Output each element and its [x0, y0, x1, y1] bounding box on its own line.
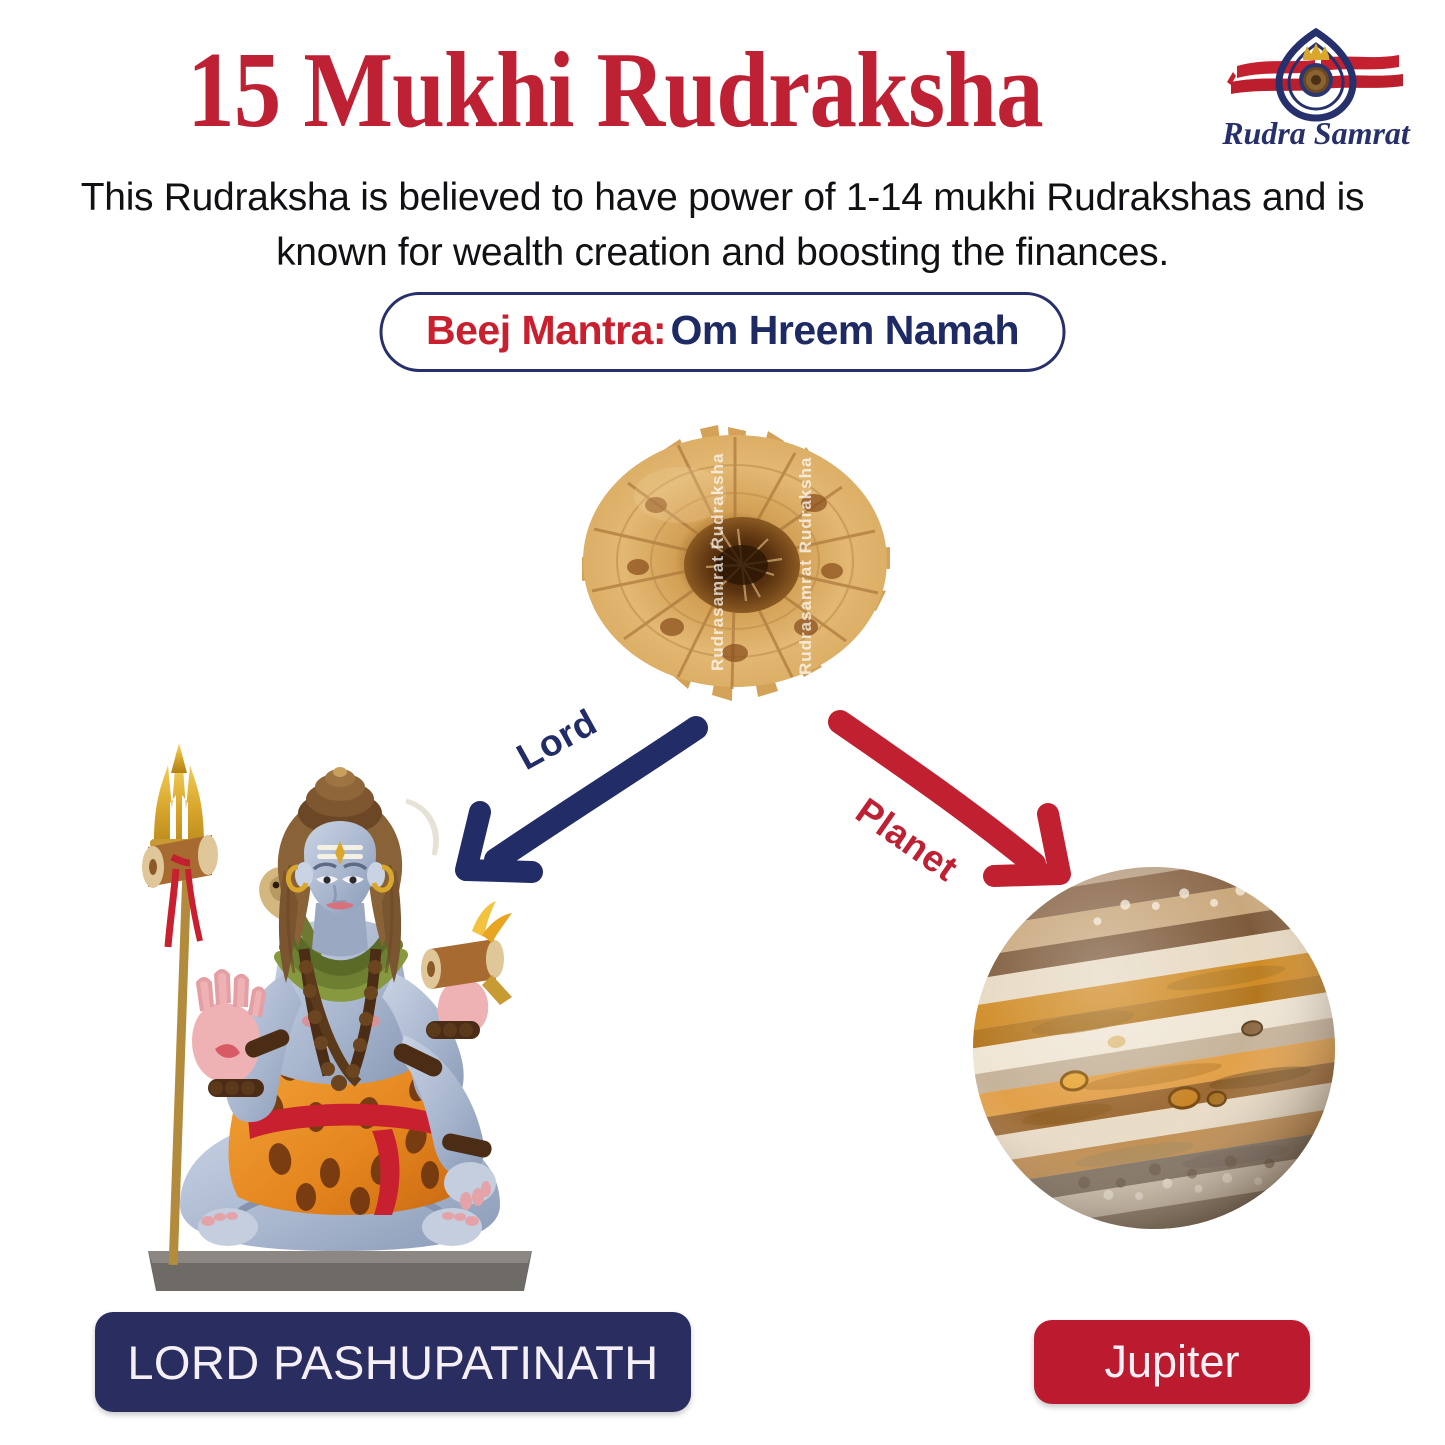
- brand-logo[interactable]: Rudra Samrat: [1203, 22, 1429, 154]
- rudraksha-bead-image: Rudrasamrat Rudraksha Rudrasamrat Rudrak…: [560, 415, 910, 707]
- brand-name-text: Rudra Samrat: [1221, 115, 1411, 151]
- rock-base-icon: [148, 1251, 532, 1291]
- crescent-moon-icon: [406, 801, 436, 855]
- rudraksha-bead-icon: [1299, 63, 1333, 97]
- crown-icon: [1303, 43, 1329, 60]
- beej-mantra-pill: Beej Mantra: Om Hreem Namah: [379, 292, 1066, 372]
- page-title: 15 Mukhi Rudraksha: [74, 34, 1156, 147]
- planet-badge[interactable]: Jupiter: [1034, 1320, 1310, 1404]
- damaru-staff-icon: [142, 835, 218, 947]
- infographic-page: 15 Mukhi Rudraksha: [0, 0, 1445, 1445]
- jupiter-planet-image: [968, 862, 1340, 1234]
- lord-shiva-image: [120, 735, 560, 1305]
- subtitle-text: This Rudraksha is believed to have power…: [50, 170, 1395, 281]
- beej-mantra-value: Om Hreem Namah: [671, 307, 1019, 353]
- lord-badge[interactable]: LORD PASHUPATINATH: [95, 1312, 691, 1412]
- beej-mantra-label: Beej Mantra:: [426, 307, 666, 353]
